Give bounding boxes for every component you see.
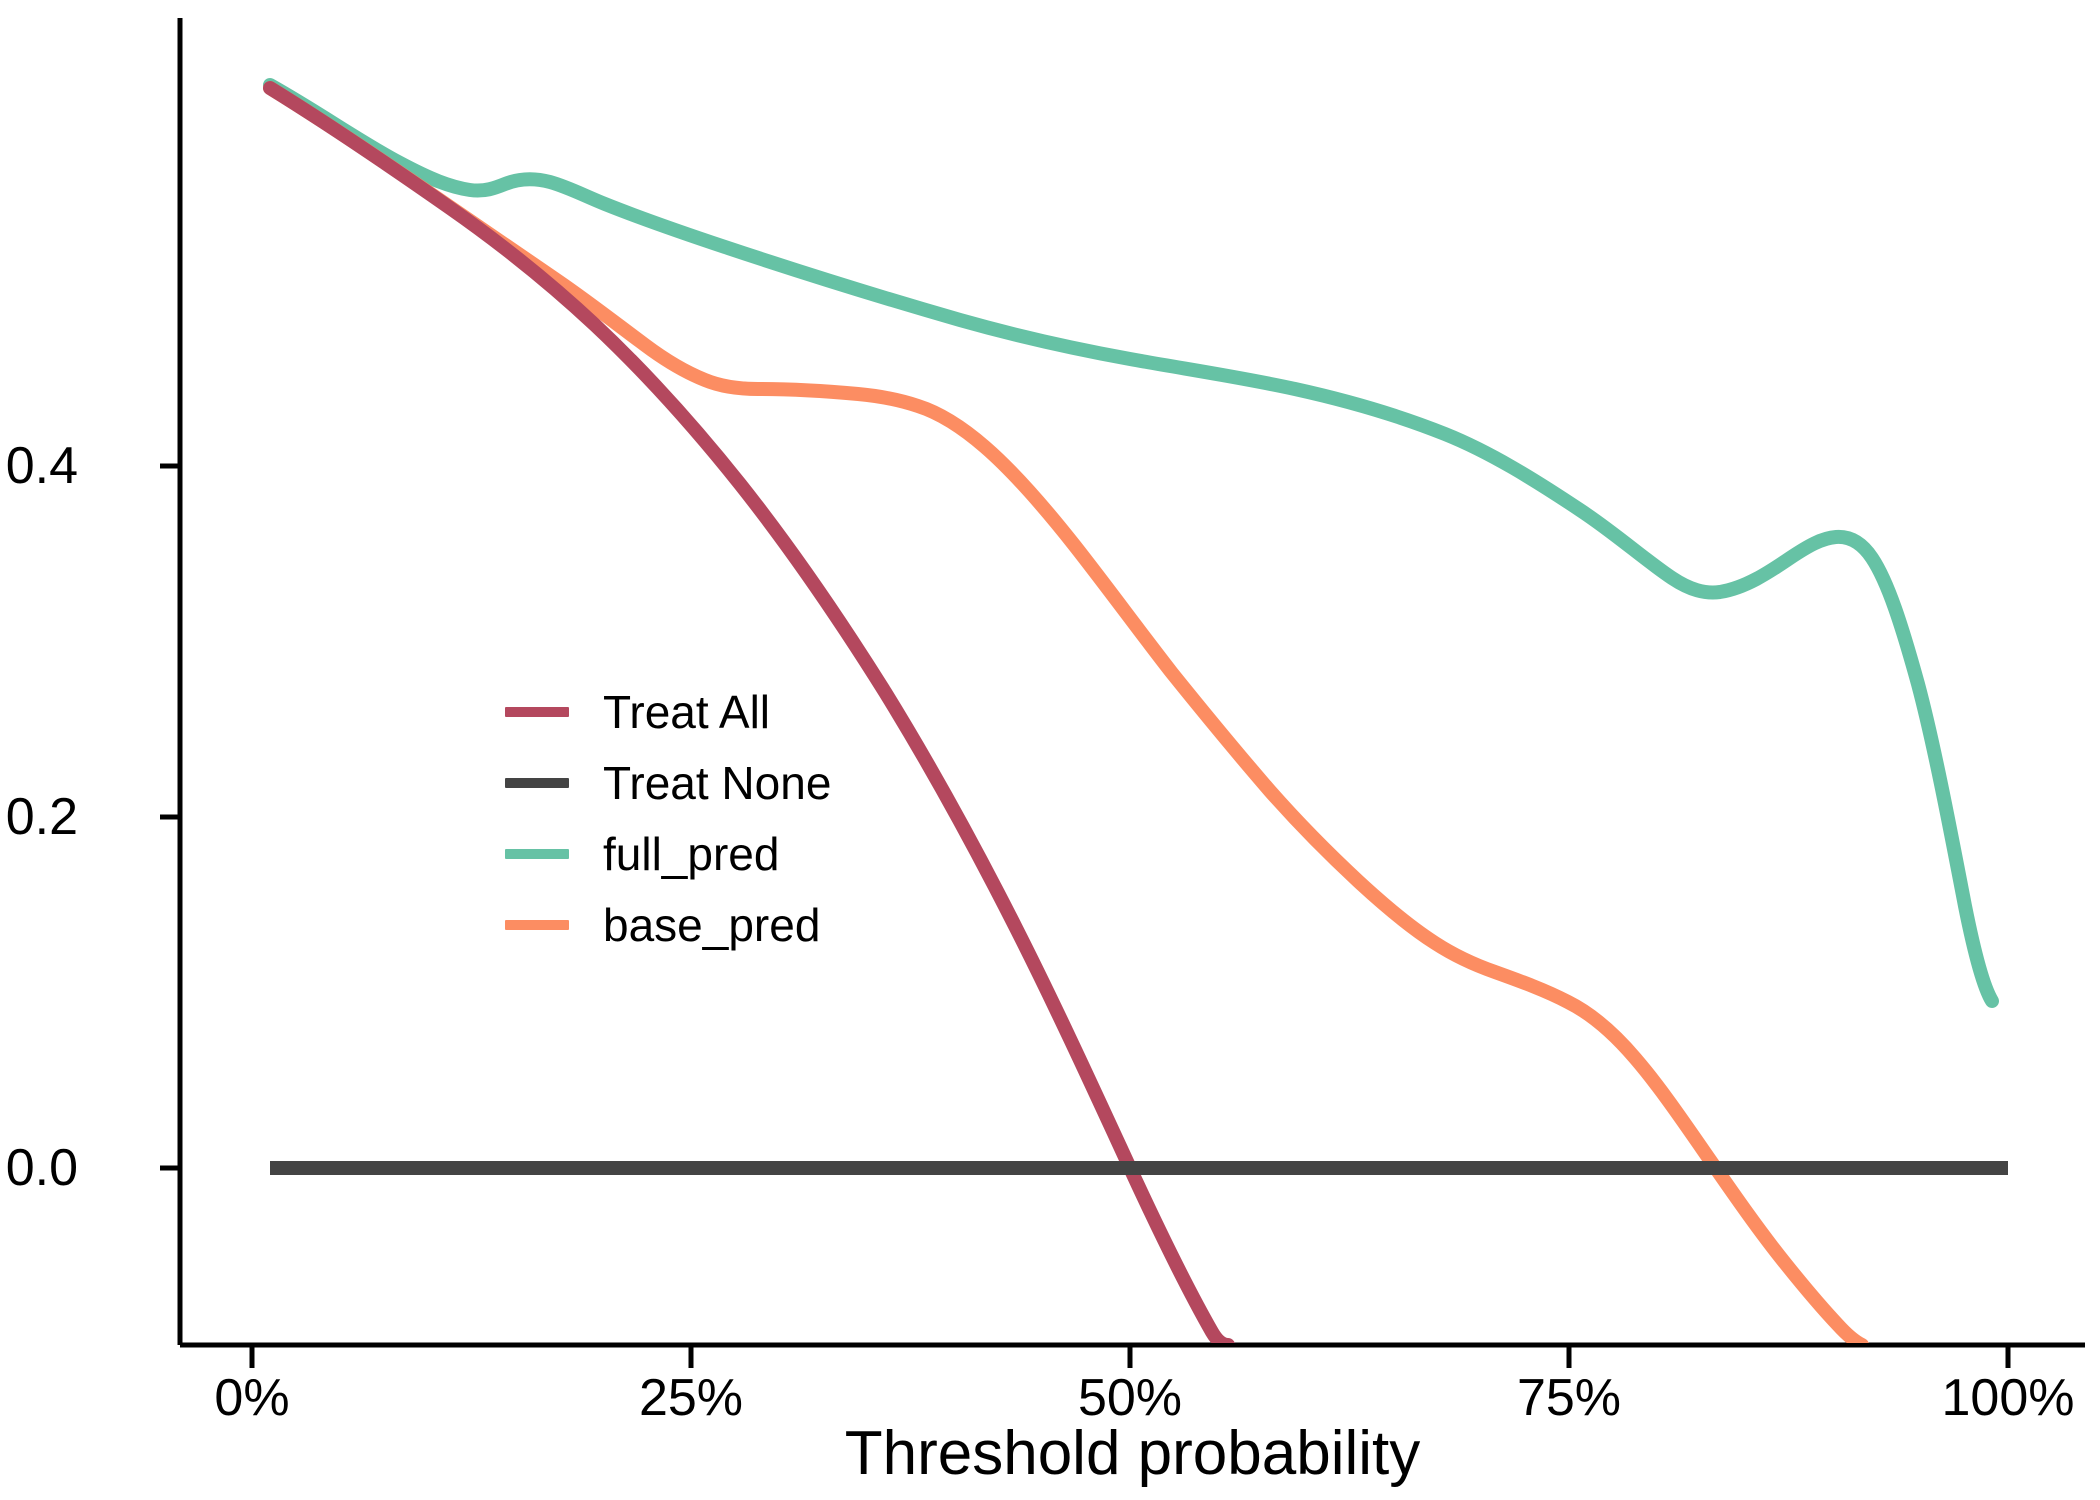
x-tick-label-1: 25% — [541, 1372, 841, 1424]
legend-item-treat-all[interactable]: Treat All — [505, 676, 925, 747]
legend-key-line-icon — [505, 920, 569, 930]
legend-item-base-pred[interactable]: base_pred — [505, 889, 925, 960]
legend-label-treat-none: Treat None — [603, 760, 831, 806]
x-tick-label-0: 0% — [102, 1372, 402, 1424]
legend-key-line-icon — [505, 778, 569, 788]
x-tick-label-4: 100% — [1858, 1372, 2100, 1424]
legend-label-treat-all: Treat All — [603, 689, 770, 735]
chart-legend: Treat All Treat None full_pred base_pred — [505, 676, 925, 960]
legend-item-full-pred[interactable]: full_pred — [505, 818, 925, 889]
legend-label-base-pred: base_pred — [603, 902, 820, 948]
plot-area — [0, 0, 2100, 1500]
y-tick-label-1: 0.2 — [0, 791, 78, 843]
legend-label-full-pred: full_pred — [603, 831, 779, 877]
x-axis-title: Threshold probability — [180, 1418, 2085, 1489]
decision-curve-chart: 0.0 0.2 0.4 0% 25% 50% 75% 100% Net Bene… — [0, 0, 2100, 1500]
y-tick-marks — [160, 466, 180, 1168]
legend-key-line-icon — [505, 707, 569, 717]
legend-item-treat-none[interactable]: Treat None — [505, 747, 925, 818]
x-tick-label-2: 50% — [980, 1372, 1280, 1424]
x-tick-marks — [252, 1345, 2008, 1368]
y-tick-label-0: 0.0 — [0, 1142, 78, 1194]
y-tick-label-2: 0.4 — [0, 440, 78, 492]
legend-key-line-icon — [505, 849, 569, 859]
x-tick-label-3: 75% — [1419, 1372, 1719, 1424]
